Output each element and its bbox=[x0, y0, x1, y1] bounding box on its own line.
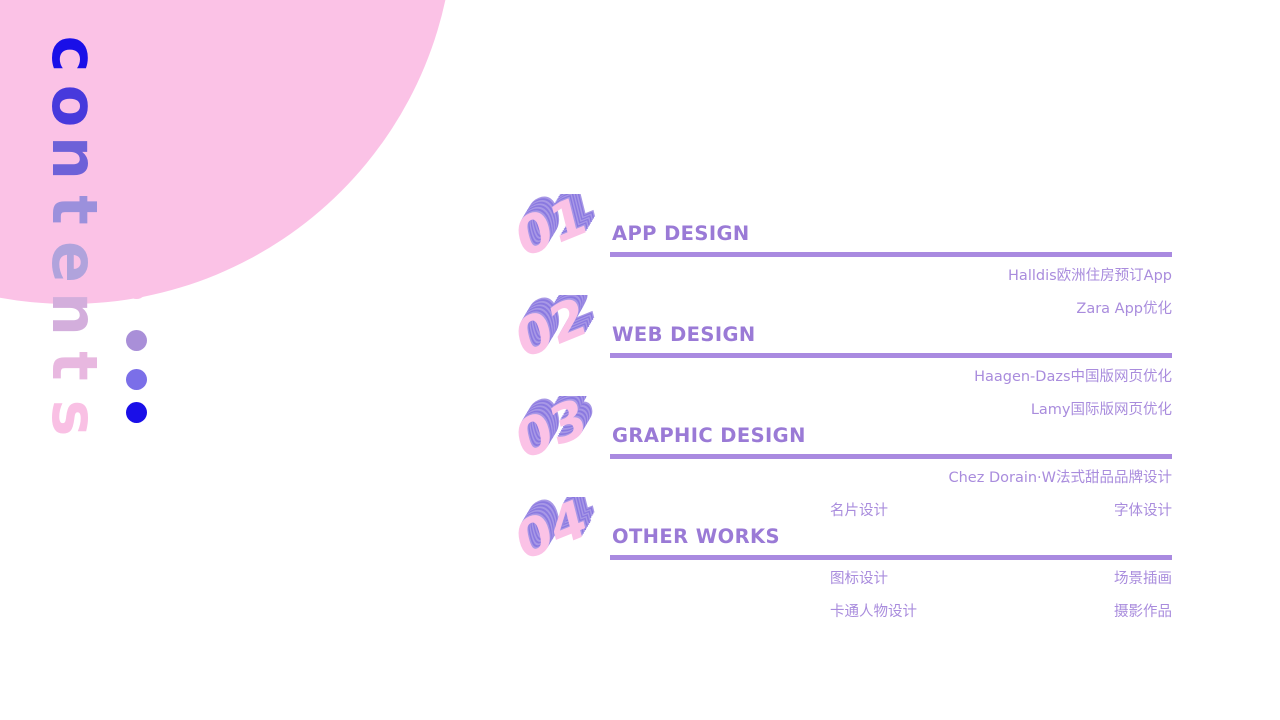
section-items: 图标设计场景插画卡通人物设计摄影作品 bbox=[516, 561, 1172, 627]
toc-section-header: 01010101010101010101APP DESIGN bbox=[516, 206, 1176, 252]
contents-wordmark: contents bbox=[38, 28, 110, 444]
section-title: OTHER WORKS bbox=[612, 525, 780, 548]
section-title: WEB DESIGN bbox=[612, 323, 756, 346]
list-item-label-left: 卡通人物设计 bbox=[830, 600, 1060, 621]
list-item-label: Halldis欧洲住房预订App bbox=[1008, 264, 1172, 285]
list-item[interactable]: 图标设计场景插画 bbox=[516, 561, 1172, 594]
toc-section-header: 02020202020202020202WEB DESIGN bbox=[516, 307, 1176, 353]
section-divider bbox=[610, 555, 1172, 560]
toc-section[interactable]: 02020202020202020202WEB DESIGNHaagen-Daz… bbox=[516, 307, 1176, 408]
list-item[interactable]: Halldis欧洲住房预订App bbox=[516, 258, 1172, 291]
list-item-label: Chez Dorain·W法式甜品品牌设计 bbox=[948, 466, 1172, 487]
wordmark-letter-8: s bbox=[48, 387, 100, 449]
section-title: APP DESIGN bbox=[612, 222, 750, 245]
list-item-label: Haagen-Dazs中国版网页优化 bbox=[974, 365, 1172, 386]
toc-section-header: 04040404040404040404OTHER WORKS bbox=[516, 509, 1176, 555]
toc-section[interactable]: 01010101010101010101APP DESIGNHalldis欧洲住… bbox=[516, 206, 1176, 307]
dot-2 bbox=[126, 330, 147, 351]
list-item-label-right: 摄影作品 bbox=[1060, 600, 1172, 621]
list-item[interactable]: Haagen-Dazs中国版网页优化 bbox=[516, 359, 1172, 392]
table-of-contents: 01010101010101010101APP DESIGNHalldis欧洲住… bbox=[516, 206, 1176, 610]
section-title: GRAPHIC DESIGN bbox=[612, 424, 806, 447]
dot-1 bbox=[126, 278, 147, 299]
list-item[interactable]: 卡通人物设计摄影作品 bbox=[516, 594, 1172, 627]
toc-section[interactable]: 03030303030303030303GRAPHIC DESIGNChez D… bbox=[516, 408, 1176, 509]
list-item-label-right: 场景插画 bbox=[1060, 567, 1172, 588]
section-divider bbox=[610, 252, 1172, 257]
list-item[interactable]: Chez Dorain·W法式甜品品牌设计 bbox=[516, 460, 1172, 493]
toc-section-header: 03030303030303030303GRAPHIC DESIGN bbox=[516, 408, 1176, 454]
toc-section[interactable]: 04040404040404040404OTHER WORKS图标设计场景插画卡… bbox=[516, 509, 1176, 610]
section-divider bbox=[610, 454, 1172, 459]
dot-3 bbox=[126, 369, 147, 390]
list-item-label-left: 图标设计 bbox=[830, 567, 1060, 588]
section-divider bbox=[610, 353, 1172, 358]
dot-4 bbox=[126, 402, 147, 423]
